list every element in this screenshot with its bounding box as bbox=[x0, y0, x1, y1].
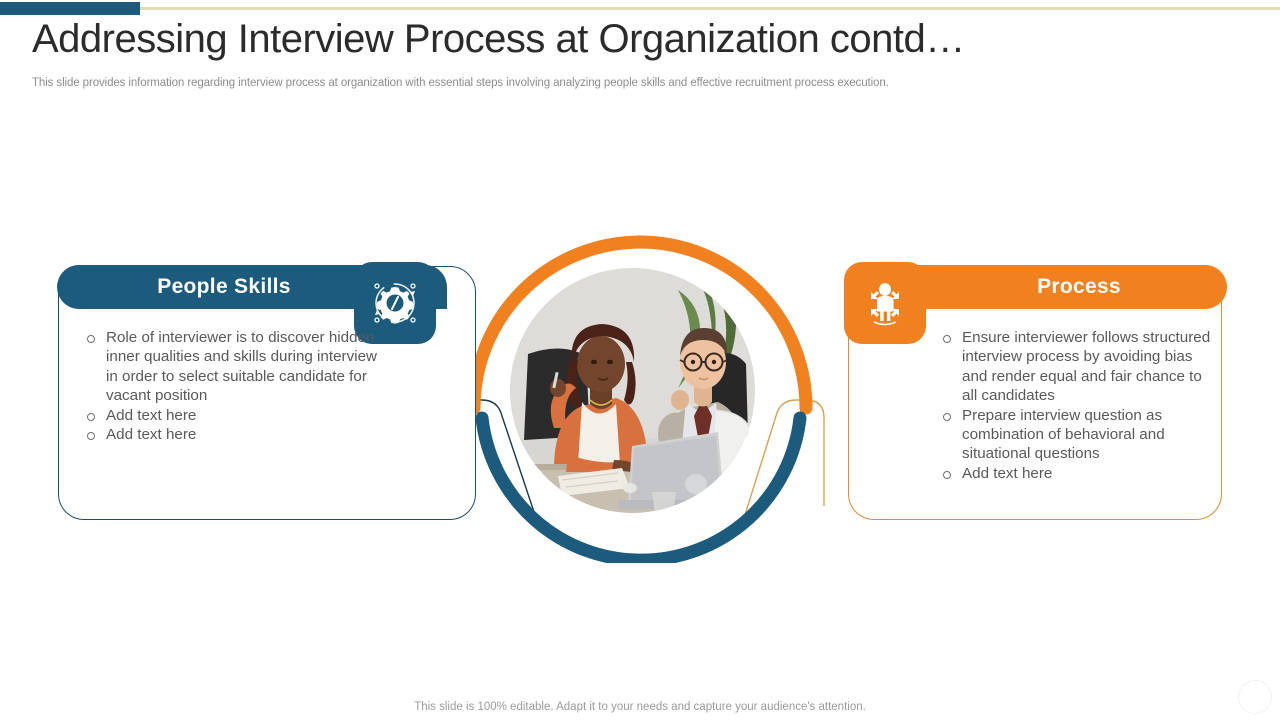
center-circle-graphic bbox=[452, 218, 828, 563]
panel-title-right: Process bbox=[1037, 275, 1121, 299]
slide-canvas: Addressing Interview Process at Organiza… bbox=[0, 0, 1280, 720]
list-item: Ensure interviewer follows structured in… bbox=[940, 328, 1212, 406]
person-expand-arrows-icon bbox=[844, 262, 926, 344]
list-item: Role of interviewer is to discover hidde… bbox=[84, 328, 384, 406]
list-item: Add text here bbox=[84, 425, 384, 444]
list-item: Add text here bbox=[940, 464, 1212, 483]
bullet-list-left: Role of interviewer is to discover hidde… bbox=[84, 328, 384, 444]
corner-watermark-circle bbox=[1238, 680, 1272, 714]
panel-title-left: People Skills bbox=[157, 275, 290, 299]
top-rule-blue bbox=[0, 2, 140, 15]
panel-people-skills[interactable]: People Skills bbox=[58, 266, 476, 520]
page-title: Addressing Interview Process at Organiza… bbox=[32, 17, 1252, 62]
center-photo bbox=[510, 268, 755, 513]
panel-process[interactable]: Process Ensure inte bbox=[848, 266, 1222, 520]
page-subtitle: This slide provides information regardin… bbox=[32, 77, 1132, 89]
footer-note: This slide is 100% editable. Adapt it to… bbox=[0, 701, 1280, 713]
bullet-list-right: Ensure interviewer follows structured in… bbox=[940, 328, 1212, 483]
list-item: Add text here bbox=[84, 406, 384, 425]
top-rule-tan bbox=[0, 7, 1280, 10]
list-item: Prepare interview question as combinatio… bbox=[940, 406, 1212, 464]
